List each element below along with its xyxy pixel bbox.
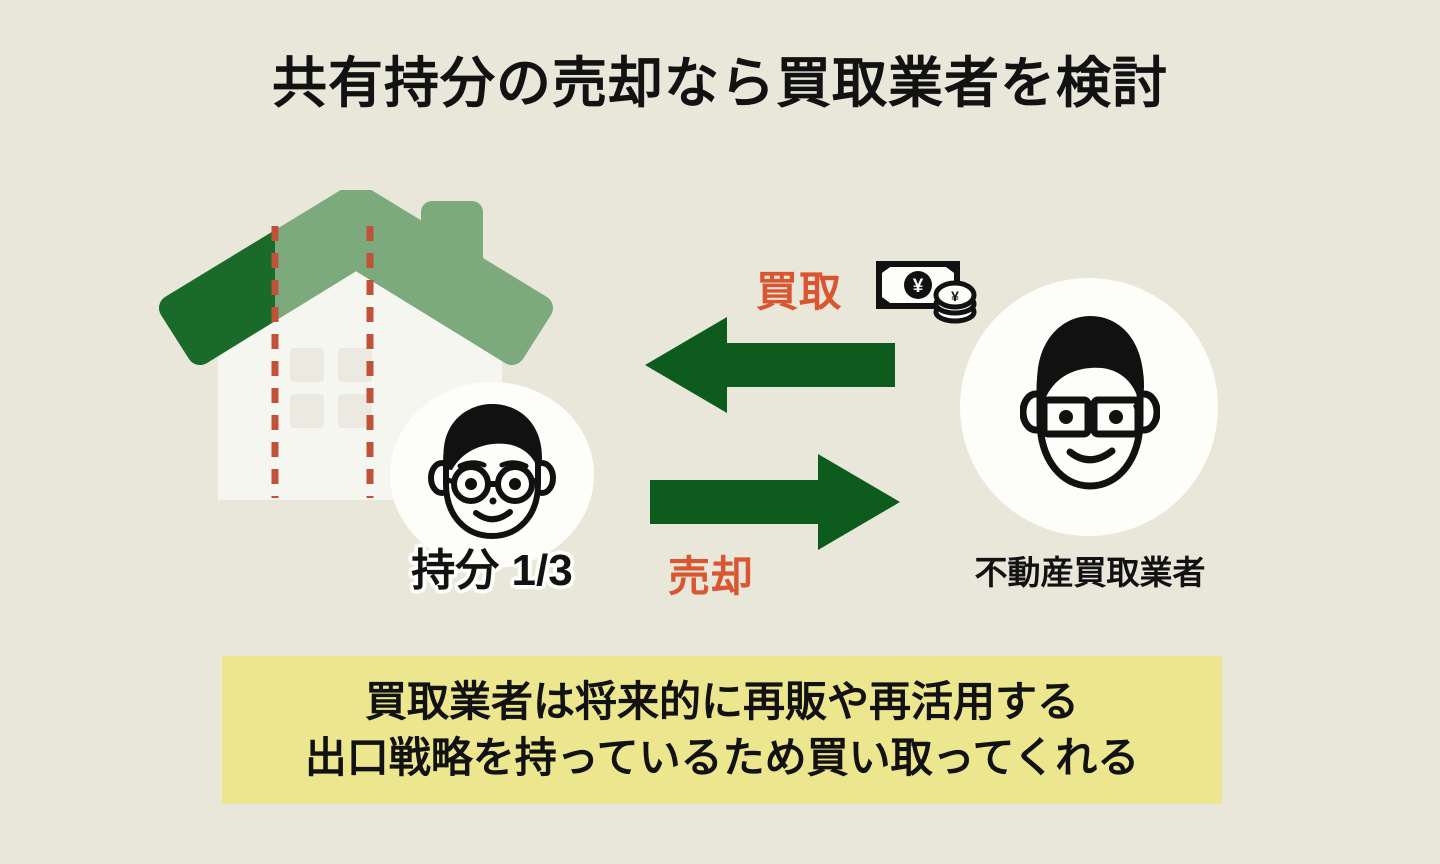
owner-share-label: 持分 1/3	[372, 534, 612, 598]
infographic-canvas: 共有持分の売却なら買取業者を検討	[0, 0, 1440, 864]
arrow-right-icon	[650, 452, 900, 552]
buyer-group: 不動産買取業者	[940, 278, 1240, 608]
arrow-buy-label: 買取	[756, 258, 842, 319]
arrow-sell-label: 売却	[668, 543, 754, 604]
page-title: 共有持分の売却なら買取業者を検討	[0, 52, 1440, 115]
house-window-pane	[290, 348, 324, 382]
buyer-avatar-icon	[1020, 308, 1160, 508]
callout-line-1: 買取業者は将来的に再販や再活用する	[365, 676, 1079, 729]
callout-box: 買取業者は将来的に再販や再活用する 出口戦略を持っているため買い取ってくれる	[222, 656, 1222, 804]
arrow-sell	[650, 452, 900, 552]
owner-group: 持分 1/3	[372, 382, 612, 597]
house-window-pane	[290, 394, 324, 428]
arrow-buy	[645, 315, 895, 415]
arrow-left-icon	[645, 315, 895, 415]
svg-text:¥: ¥	[913, 276, 924, 297]
house-chimney	[432, 212, 472, 282]
callout-line-2: 出口戦略を持っているため買い取ってくれる	[305, 732, 1140, 785]
buyer-role-label: 不動産買取業者	[940, 546, 1240, 594]
owner-avatar-icon	[426, 400, 558, 550]
